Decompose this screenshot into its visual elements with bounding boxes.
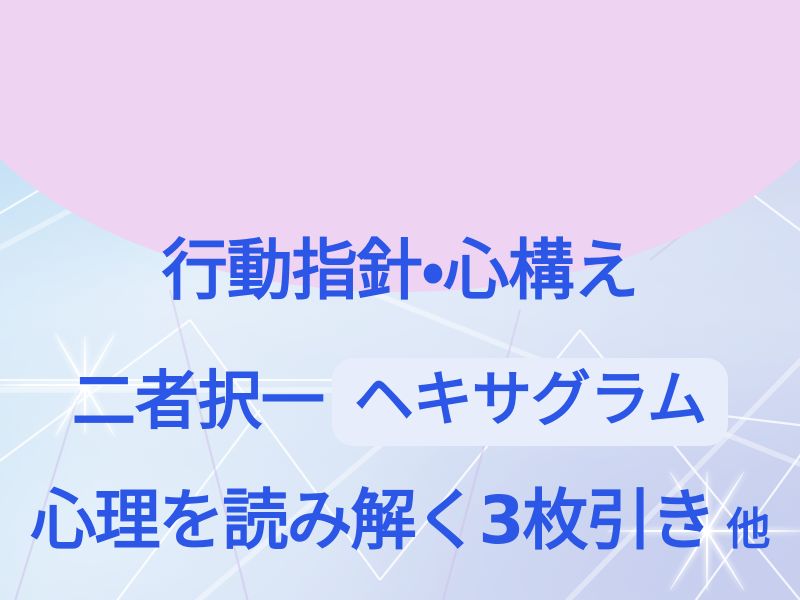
- text-line-principles: 行動指針・心構え: [0, 238, 800, 304]
- badge-hexagram: ヘキサグラム: [332, 358, 728, 446]
- poster-canvas: よく使うスプレッド 行動指針・心構え 二者択一 ヘキサグラム 心理を読み解く3枚…: [0, 0, 800, 600]
- text-three-card-reading: 心理を読み解く3枚引き: [31, 488, 715, 554]
- text-line-binary: 二者択一 ヘキサグラム: [0, 358, 800, 446]
- text-binary-choice: 二者択一: [72, 370, 324, 434]
- text-etc-suffix: 他: [726, 508, 769, 554]
- text-line-threecard: 心理を読み解く3枚引き 他: [0, 488, 800, 554]
- text-principles: 行動指針・心構え: [162, 238, 638, 304]
